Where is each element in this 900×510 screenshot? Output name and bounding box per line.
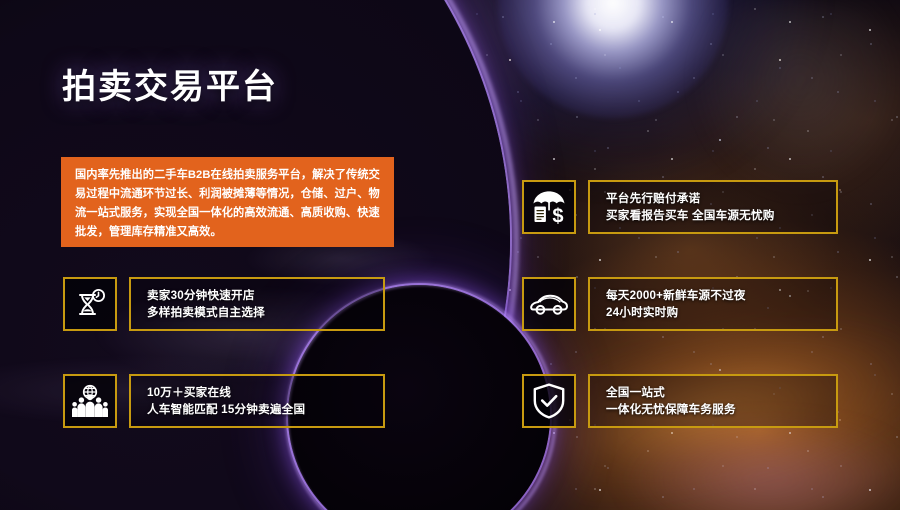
feature-card-fresh-inventory[interactable]: 每天2000+新鲜车源不过夜 24小时实时购 — [522, 277, 838, 331]
umbrella-document-dollar-icon: $ — [522, 180, 576, 234]
feature-card-buyers-online[interactable]: 10万＋买家在线 人车智能匹配 15分钟卖遍全国 — [63, 374, 385, 428]
feature-line-1: 平台先行赔付承诺 — [606, 190, 836, 207]
svg-text:$: $ — [552, 205, 563, 225]
slide-canvas: 拍卖交易平台 国内率先推出的二手车B2B在线拍卖服务平台，解决了传统交易过程中流… — [0, 0, 900, 510]
globe-people-icon — [63, 374, 117, 428]
feature-card-compensation-promise-body: 平台先行赔付承诺 买家看报告买车 全国车源无忧购 — [588, 180, 838, 234]
feature-line-1: 10万＋买家在线 — [147, 384, 383, 401]
feature-card-fresh-inventory-body: 每天2000+新鲜车源不过夜 24小时实时购 — [588, 277, 838, 331]
feature-line-2: 人车智能匹配 15分钟卖遍全国 — [147, 401, 383, 418]
feature-card-seller-shop[interactable]: 卖家30分钟快速开店 多样拍卖模式自主选择 — [63, 277, 385, 331]
feature-line-2: 24小时实时购 — [606, 304, 836, 321]
shield-check-icon — [522, 374, 576, 428]
feature-line-2: 一体化无忧保障车务服务 — [606, 401, 836, 418]
page-title: 拍卖交易平台 — [62, 59, 278, 108]
feature-card-buyers-online-body: 10万＋买家在线 人车智能匹配 15分钟卖遍全国 — [129, 374, 385, 428]
intro-description-text: 国内率先推出的二手车B2B在线拍卖服务平台，解决了传统交易过程中流通环节过长、利… — [75, 166, 381, 242]
hourglass-clock-icon — [63, 277, 117, 331]
feature-line-1: 卖家30分钟快速开店 — [147, 287, 383, 304]
feature-line-1: 每天2000+新鲜车源不过夜 — [606, 287, 836, 304]
feature-card-nationwide-service[interactable]: 全国一站式 一体化无忧保障车务服务 — [522, 374, 838, 428]
feature-card-nationwide-service-body: 全国一站式 一体化无忧保障车务服务 — [588, 374, 838, 428]
car-icon — [522, 277, 576, 331]
slide-content: 拍卖交易平台 国内率先推出的二手车B2B在线拍卖服务平台，解决了传统交易过程中流… — [0, 0, 900, 510]
feature-line-2: 买家看报告买车 全国车源无忧购 — [606, 207, 836, 224]
feature-line-1: 全国一站式 — [606, 384, 836, 401]
feature-card-compensation-promise[interactable]: $ 平台先行赔付承诺 买家看报告买车 全国车源无忧购 — [522, 180, 838, 234]
feature-card-seller-shop-body: 卖家30分钟快速开店 多样拍卖模式自主选择 — [129, 277, 385, 331]
intro-description-box: 国内率先推出的二手车B2B在线拍卖服务平台，解决了传统交易过程中流通环节过长、利… — [61, 157, 394, 247]
feature-line-2: 多样拍卖模式自主选择 — [147, 304, 383, 321]
